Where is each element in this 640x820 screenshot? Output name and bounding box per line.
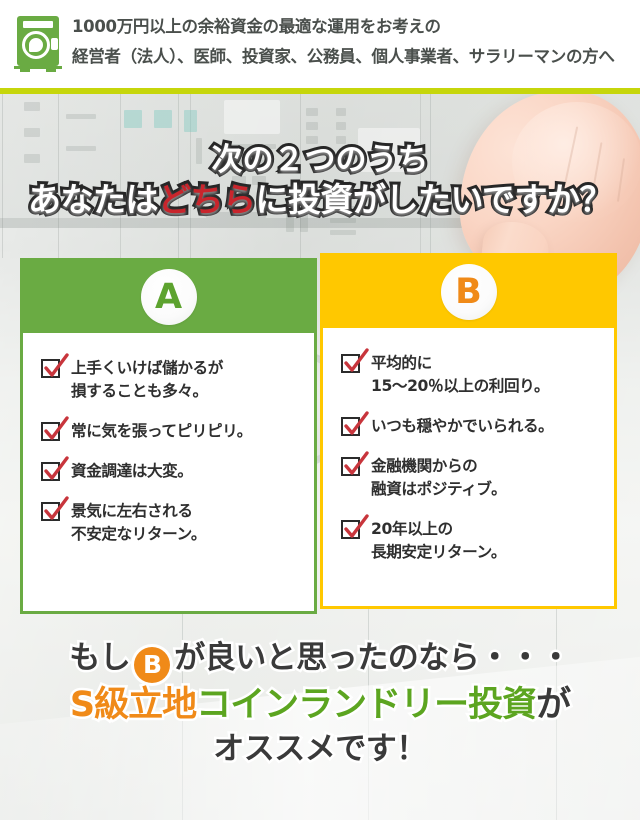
- list-item: 常に気を張ってピリピリ。: [41, 420, 300, 443]
- list-item: いつも穏やかでいられる。: [341, 415, 600, 438]
- header-line-2: 経営者（法人）、医師、投資家、公務員、個人事業者、サラリーマンの方へ: [72, 42, 638, 72]
- washing-machine-icon: [14, 16, 62, 72]
- badge-b: B: [441, 264, 497, 320]
- list-item-label: 景気に左右される 不安定なリターン。: [71, 500, 206, 546]
- list-item: 平均的に 15〜20％以上の利回り。: [341, 352, 600, 398]
- cta-highlight-location: S級立地: [70, 685, 196, 725]
- cta-line-2: S級立地コインランドリー投資が: [0, 683, 640, 727]
- page-title: 次の２つのうち あなたはどちらに投資がしたいですか？: [0, 140, 640, 220]
- checkmark-icon: [41, 502, 60, 521]
- list-item-label: 上手くいけば儲かるが 損することも多々。: [71, 357, 223, 403]
- list-item: 金融機関からの 融資はポジティブ。: [341, 455, 600, 501]
- cta-line1-before: もし: [69, 640, 130, 676]
- checkmark-icon: [41, 422, 60, 441]
- header-line-1: 1000万円以上の余裕資金の最適な運用をお考えの: [72, 12, 638, 42]
- list-item-label: 金融機関からの 融資はポジティブ。: [371, 455, 506, 501]
- checkmark-icon: [341, 417, 360, 436]
- top-header-bar: 1000万円以上の余裕資金の最適な運用をお考えの 経営者（法人）、医師、投資家、…: [0, 0, 640, 88]
- list-item-label: いつも穏やかでいられる。: [371, 415, 553, 438]
- list-item-label: 資金調達は大変。: [71, 460, 193, 483]
- checkmark-icon: [341, 520, 360, 539]
- card-b-body: 平均的に 15〜20％以上の利回り。 いつも穏やかでいられる。 金融機関からの …: [323, 328, 614, 574]
- header-text-block: 1000万円以上の余裕資金の最適な運用をお考えの 経営者（法人）、医師、投資家、…: [72, 12, 638, 72]
- headline-line2-before: あなたは: [28, 180, 158, 219]
- cta-line1-after: が良いと思ったのなら・・・: [174, 640, 571, 676]
- list-item: 上手くいけば儲かるが 損することも多々。: [41, 357, 300, 403]
- checkmark-icon: [41, 462, 60, 481]
- list-item-label: 平均的に 15〜20％以上の利回り。: [371, 352, 549, 398]
- green-divider-rule: [0, 88, 640, 94]
- card-b-header: B: [323, 256, 614, 328]
- checkmark-icon: [41, 359, 60, 378]
- headline-line-2: あなたはどちらに投資がしたいですか？: [0, 180, 640, 220]
- cta-highlight-product: コインランドリー投資: [196, 685, 536, 725]
- list-item-label: 常に気を張ってピリピリ。: [71, 420, 252, 443]
- cta-block: もしBが良いと思ったのなら・・・ S級立地コインランドリー投資が オススメです！: [0, 636, 640, 771]
- checkmark-icon: [341, 354, 360, 373]
- headline-accent: どちら: [158, 180, 256, 219]
- list-item: 資金調達は大変。: [41, 460, 300, 483]
- cta-line2-after: が: [536, 685, 570, 725]
- list-item: 景気に左右される 不安定なリターン。: [41, 500, 300, 546]
- card-a-body: 上手くいけば儲かるが 損することも多々。 常に気を張ってピリピリ。 資金調達は大…: [23, 333, 314, 556]
- checkmark-icon: [341, 457, 360, 476]
- badge-a: A: [141, 269, 197, 325]
- option-card-a[interactable]: A 上手くいけば儲かるが 損することも多々。 常に気を張ってピリピリ。 資金調達…: [20, 258, 317, 614]
- option-card-b[interactable]: B 平均的に 15〜20％以上の利回り。 いつも穏やかでいられる。 金融機関から…: [320, 253, 617, 609]
- list-item: 20年以上の 長期安定リターン。: [341, 518, 600, 564]
- badge-b-inline: B: [134, 647, 170, 683]
- cta-line-1: もしBが良いと思ったのなら・・・: [0, 636, 640, 683]
- list-item-label: 20年以上の 長期安定リターン。: [371, 518, 506, 564]
- headline-line-1: 次の２つのうち: [0, 140, 640, 180]
- promo-page: 1000万円以上の余裕資金の最適な運用をお考えの 経営者（法人）、医師、投資家、…: [0, 0, 640, 820]
- card-a-header: A: [23, 261, 314, 333]
- headline-line2-after: に投資がしたいですか？: [255, 180, 612, 219]
- cta-line-3: オススメです！: [0, 727, 640, 771]
